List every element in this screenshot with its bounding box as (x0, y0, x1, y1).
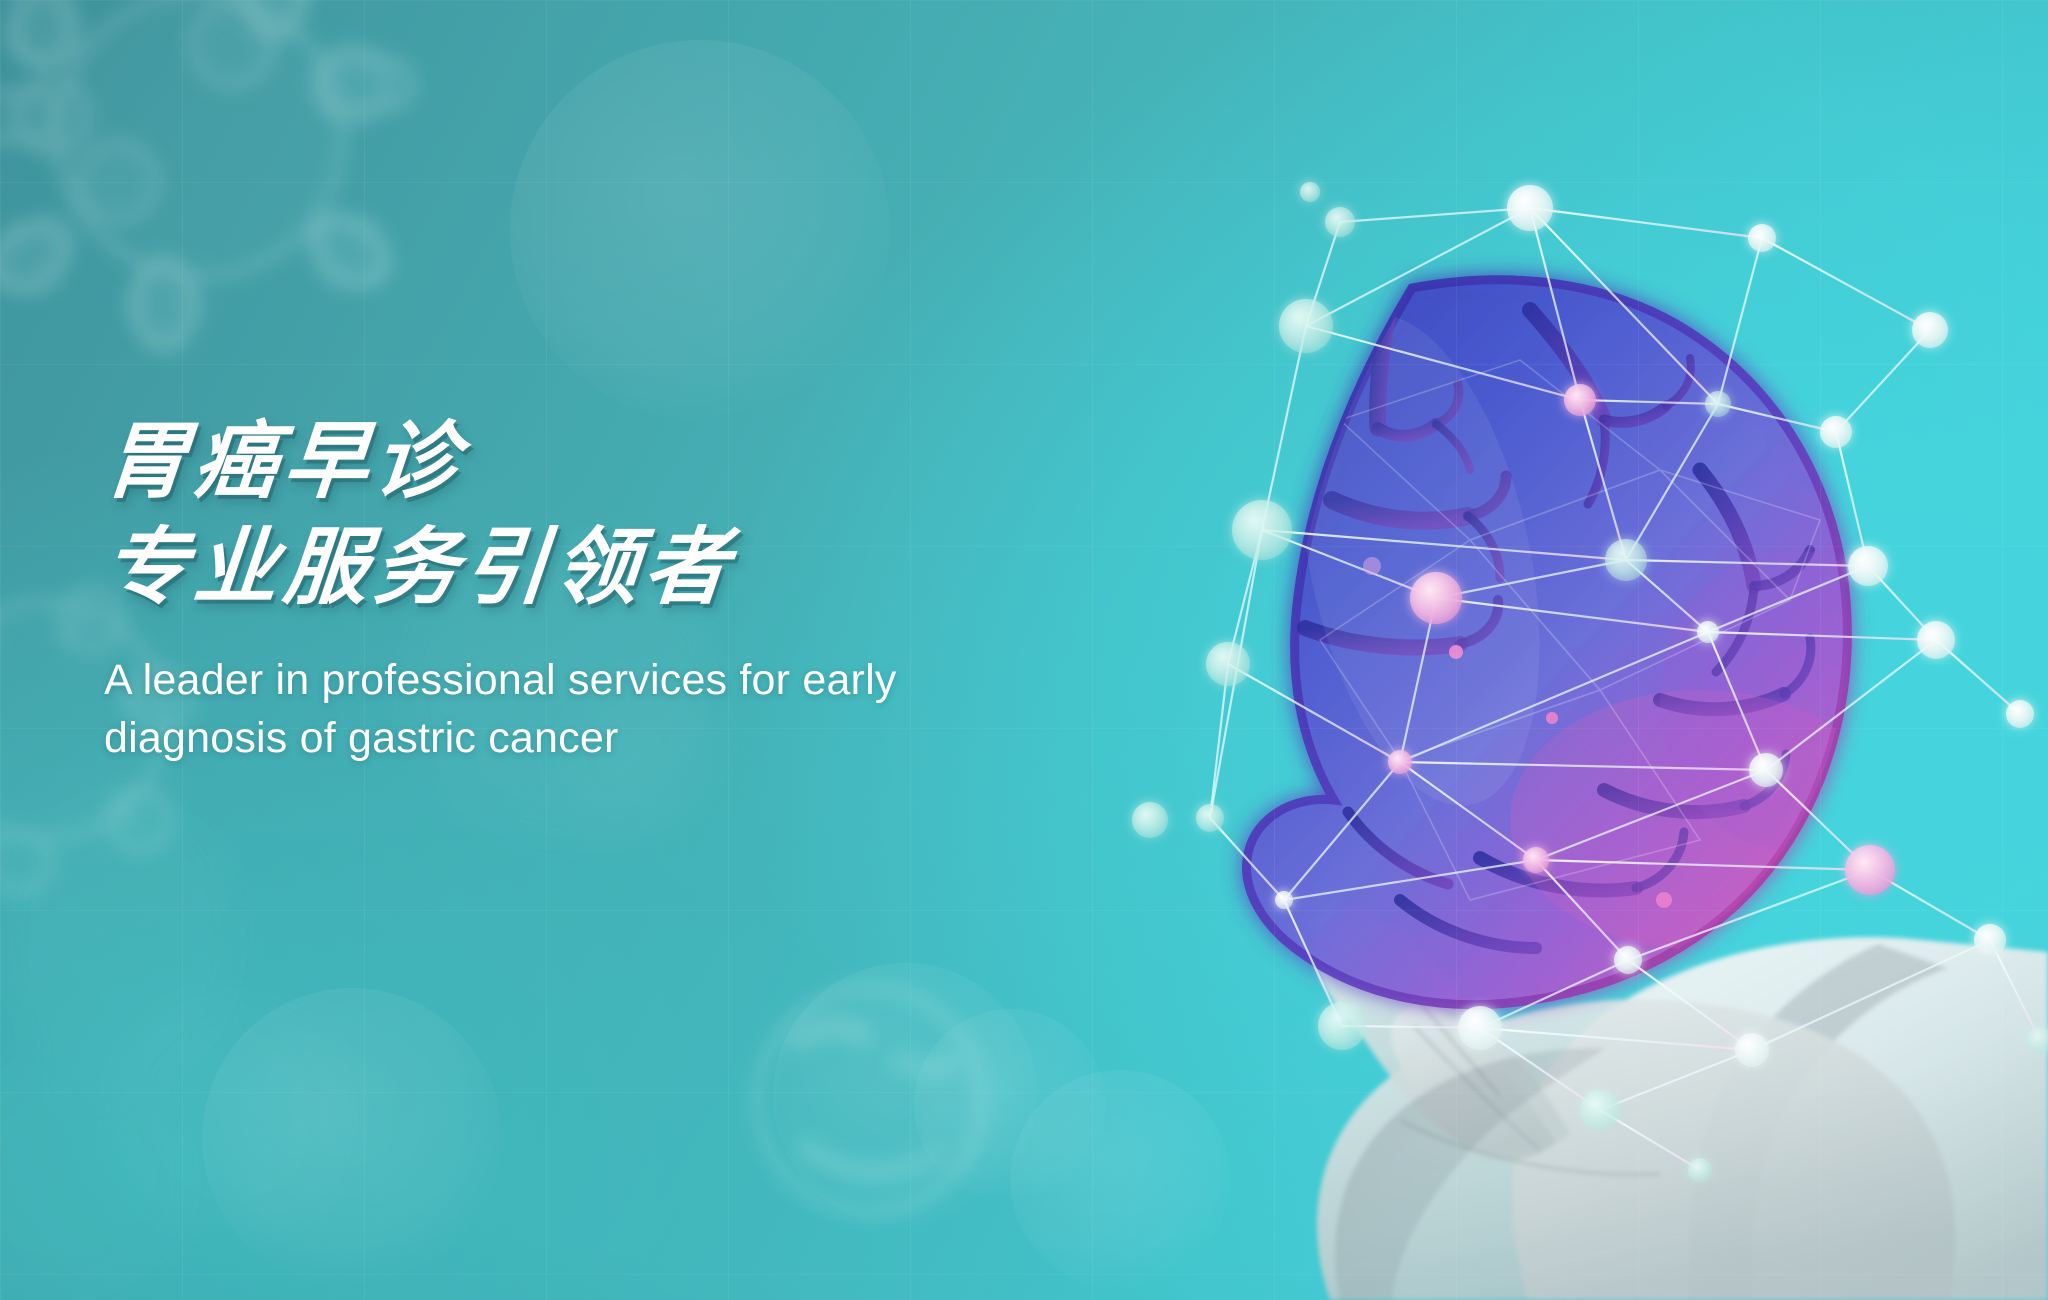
subheadline-line-2: diagnosis of gastric cancer (104, 709, 1114, 767)
headline-line-2: 专业服务引领者 (100, 518, 1129, 616)
subheadline: A leader in professional services for ea… (104, 651, 1114, 767)
subheadline-line-1: A leader in professional services for ea… (104, 651, 1114, 709)
promo-banner: 胃癌早诊 专业服务引领者 A leader in professional se… (0, 0, 2048, 1300)
headline-line-1: 胃癌早诊 (100, 412, 1129, 510)
headline-block: 胃癌早诊 专业服务引领者 A leader in professional se… (104, 412, 1124, 767)
